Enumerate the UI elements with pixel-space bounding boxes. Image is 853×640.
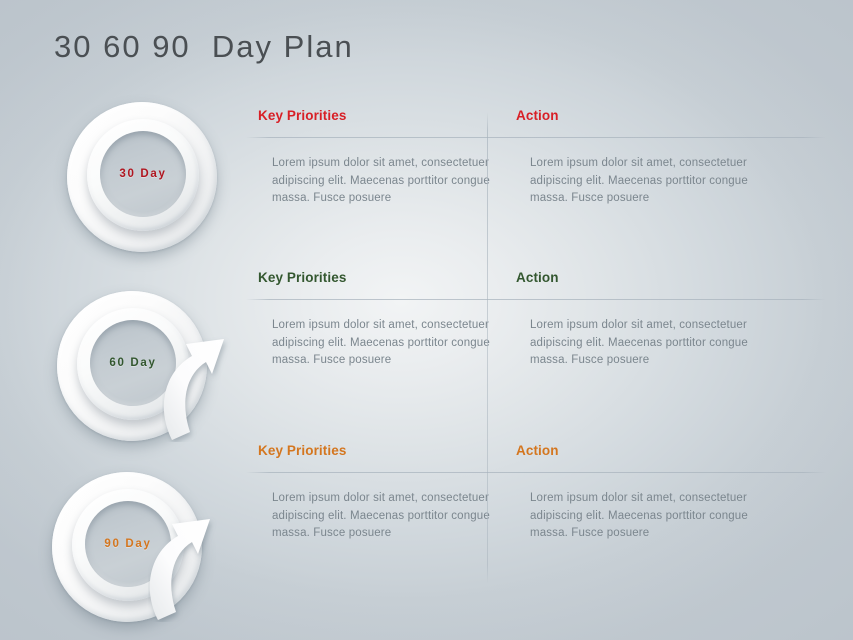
- timeline-node-60-day[interactable]: 60 Day: [57, 291, 207, 441]
- node-label-30-day: 30 Day: [119, 168, 166, 180]
- body-text: Lorem ipsum dolor sit amet, consectetuer…: [516, 155, 756, 208]
- node-outer-ring: 60 Day: [57, 291, 207, 441]
- cell-30-day-key-priorities: Key Priorities Lorem ipsum dolor sit ame…: [258, 108, 510, 123]
- heading-action: Action: [516, 270, 768, 285]
- cell-90-day-key-priorities: Key Priorities Lorem ipsum dolor sit ame…: [258, 443, 510, 458]
- page-title: 30 60 90 Day Plan: [54, 29, 354, 65]
- content-row-60-day: Key Priorities Lorem ipsum dolor sit ame…: [246, 270, 826, 420]
- cell-30-day-action: Action Lorem ipsum dolor sit amet, conse…: [516, 108, 768, 123]
- row-divider-90-day: [246, 472, 826, 473]
- body-text: Lorem ipsum dolor sit amet, consectetuer…: [516, 490, 756, 543]
- heading-key-priorities: Key Priorities: [258, 443, 510, 458]
- node-inner-ring: 30 Day: [87, 119, 199, 231]
- node-inner-ring: 90 Day: [72, 489, 184, 601]
- column-divider: [487, 112, 488, 584]
- node-label-90-day: 90 Day: [104, 538, 151, 550]
- heading-action: Action: [516, 443, 768, 458]
- cell-90-day-action: Action Lorem ipsum dolor sit amet, conse…: [516, 443, 768, 458]
- body-text: Lorem ipsum dolor sit amet, consectetuer…: [258, 317, 498, 370]
- node-outer-ring: 30 Day: [67, 102, 217, 252]
- heading-action: Action: [516, 108, 768, 123]
- content-row-30-day: Key Priorities Lorem ipsum dolor sit ame…: [246, 108, 826, 258]
- cell-60-day-key-priorities: Key Priorities Lorem ipsum dolor sit ame…: [258, 270, 510, 285]
- timeline-node-90-day[interactable]: 90 Day: [52, 472, 202, 622]
- timeline-column: 30 Day 60 Day 90 Day: [52, 92, 252, 612]
- node-label-60-day: 60 Day: [109, 357, 156, 369]
- node-outer-ring: 90 Day: [52, 472, 202, 622]
- heading-key-priorities: Key Priorities: [258, 270, 510, 285]
- node-face: 30 Day: [100, 131, 186, 217]
- row-divider-30-day: [246, 137, 826, 138]
- slide-canvas: 30 60 90 Day Plan: [0, 0, 853, 640]
- node-face: 60 Day: [90, 320, 176, 406]
- body-text: Lorem ipsum dolor sit amet, consectetuer…: [516, 317, 756, 370]
- heading-key-priorities: Key Priorities: [258, 108, 510, 123]
- content-row-90-day: Key Priorities Lorem ipsum dolor sit ame…: [246, 443, 826, 593]
- content-grid: Key Priorities Lorem ipsum dolor sit ame…: [246, 108, 826, 588]
- timeline-node-30-day[interactable]: 30 Day: [67, 102, 217, 252]
- node-inner-ring: 60 Day: [77, 308, 189, 420]
- body-text: Lorem ipsum dolor sit amet, consectetuer…: [258, 155, 498, 208]
- node-face: 90 Day: [85, 501, 171, 587]
- cell-60-day-action: Action Lorem ipsum dolor sit amet, conse…: [516, 270, 768, 285]
- body-text: Lorem ipsum dolor sit amet, consectetuer…: [258, 490, 498, 543]
- row-divider-60-day: [246, 299, 826, 300]
